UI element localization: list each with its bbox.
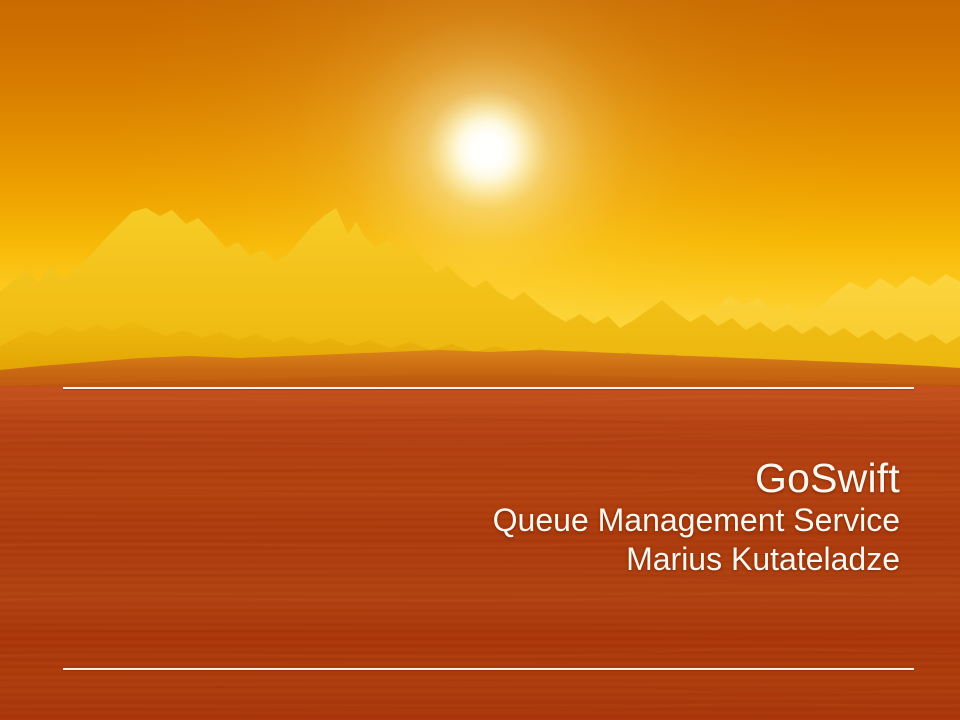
- slide-author: Marius Kutateladze: [60, 540, 900, 579]
- horizontal-rule-bottom: [63, 668, 914, 670]
- title-text-block: GoSwift Queue Management Service Marius …: [60, 455, 900, 579]
- slide-subtitle: Queue Management Service: [60, 501, 900, 540]
- sky-background: [0, 0, 960, 392]
- page-title: GoSwift: [60, 455, 900, 501]
- horizontal-rule-top: [63, 387, 914, 389]
- title-slide: GoSwift Queue Management Service Marius …: [0, 0, 960, 720]
